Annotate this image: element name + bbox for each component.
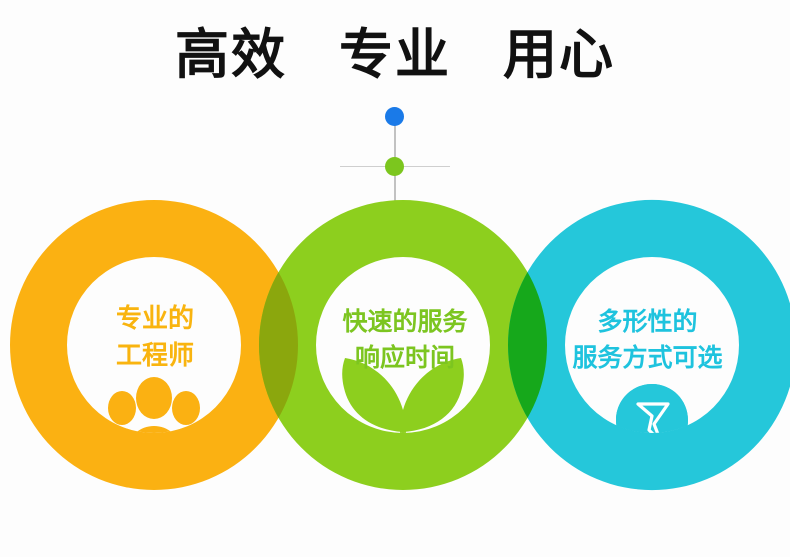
infographic-canvas: 高效专业用心 <box>0 0 790 557</box>
venn-diagram <box>0 0 790 557</box>
ring-green <box>259 200 547 490</box>
ring-orange <box>10 200 298 490</box>
ring-cyan <box>508 200 790 490</box>
